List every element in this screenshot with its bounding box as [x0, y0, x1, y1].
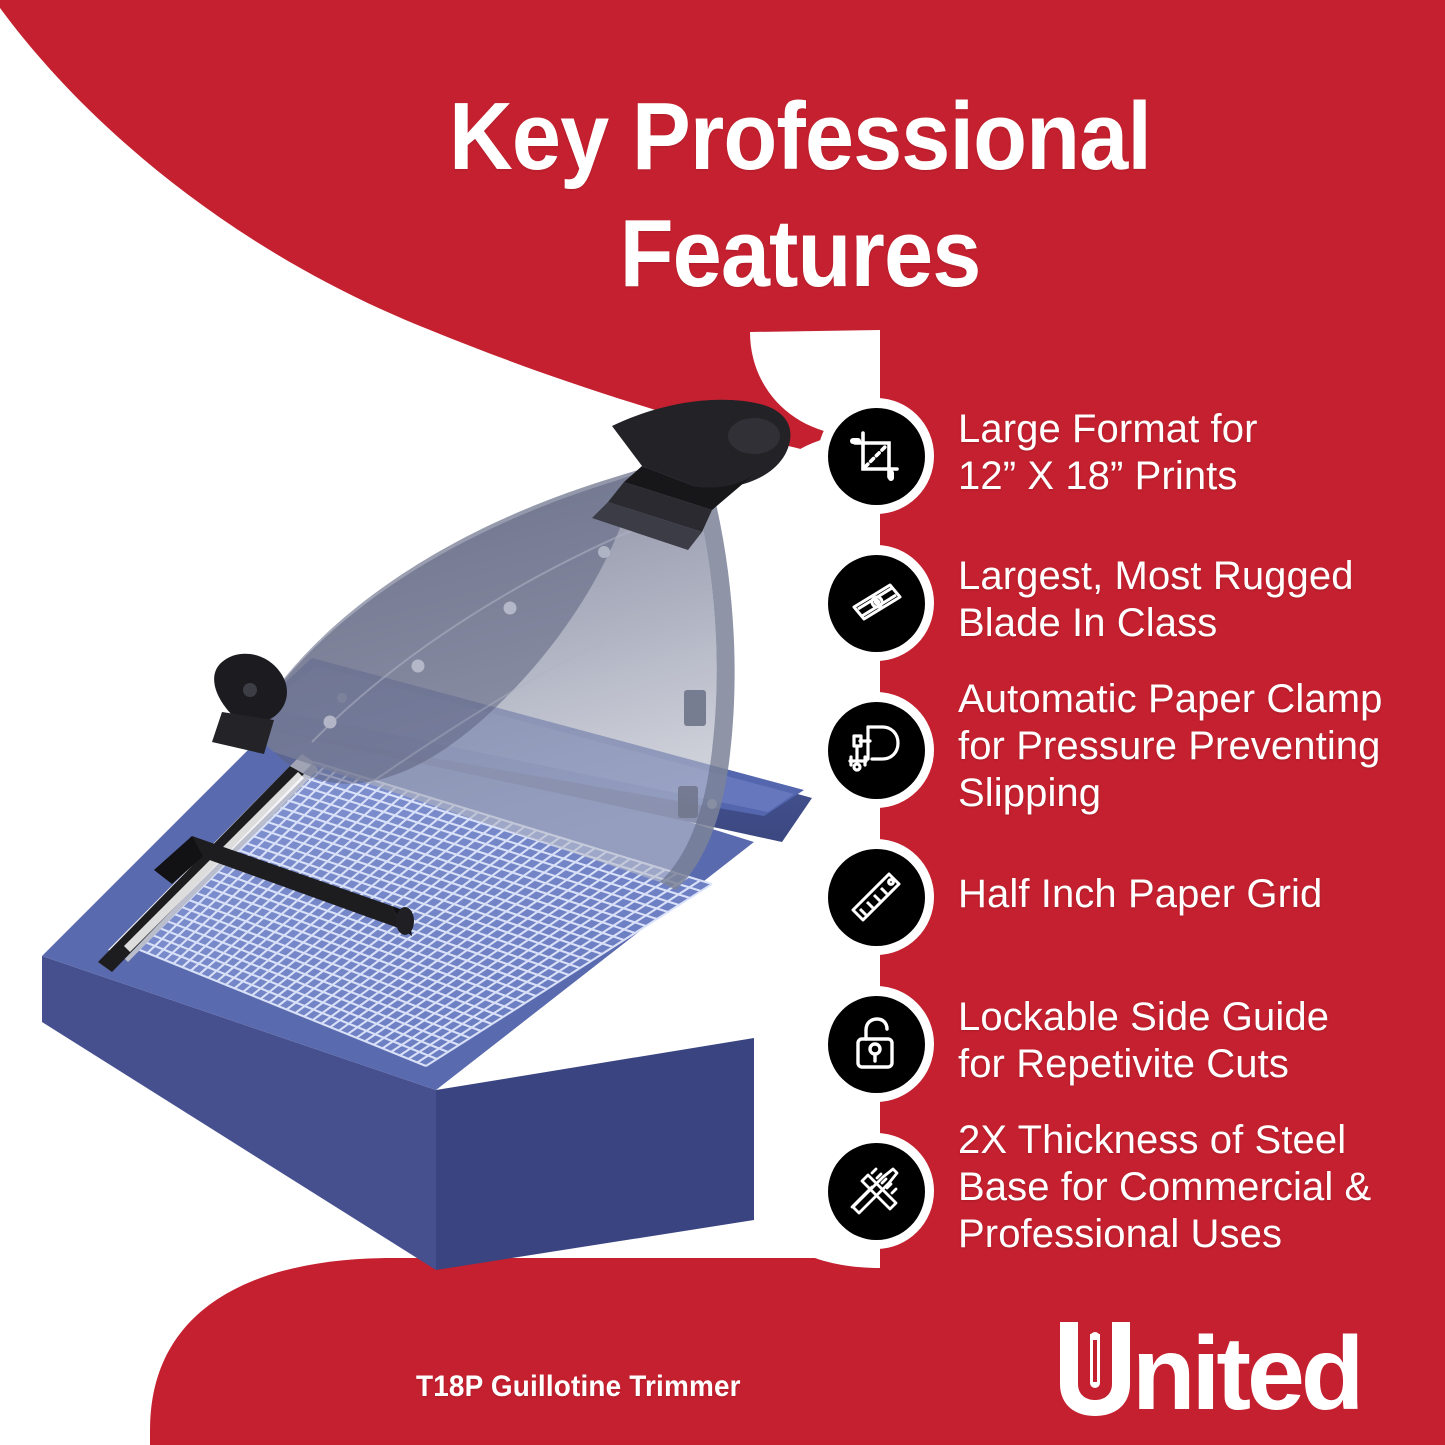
guard-hinge-2 — [678, 786, 698, 818]
paperclip-u-icon — [1052, 1318, 1138, 1422]
crop-frame-icon — [818, 398, 934, 514]
trimmer-base-right-face — [436, 1038, 754, 1270]
product-name-label: T18P Guillotine Trimmer — [416, 1370, 741, 1404]
c-clamp-icon — [818, 692, 934, 808]
feature-line: Base for Commercial & — [958, 1165, 1371, 1209]
feature-line: Slipping — [958, 771, 1101, 815]
caliper-icon — [818, 1133, 934, 1249]
feature-text: Large Format for 12” X 18” Prints — [958, 406, 1438, 500]
icon-disc — [828, 1143, 925, 1240]
feature-line: for Repetivite Cuts — [958, 1042, 1289, 1086]
icon-disc — [828, 702, 925, 799]
feature-text: Largest, Most Rugged Blade In Class — [958, 553, 1438, 647]
feature-line: Large Format for — [958, 407, 1258, 451]
feature-line: Lockable Side Guide — [958, 995, 1329, 1039]
icon-disc — [828, 996, 925, 1093]
brand-wordmark: nited — [1132, 1322, 1360, 1426]
feature-text: Half Inch Paper Grid — [958, 871, 1438, 918]
feature-line: 2X Thickness of Steel — [958, 1118, 1346, 1162]
icon-disc — [828, 555, 925, 652]
guard-hinge-1 — [684, 690, 706, 726]
guard-screw-2 — [412, 660, 425, 673]
blade-sharpener-icon — [818, 545, 934, 661]
guard-screw-3 — [504, 602, 517, 615]
united-logo: nited — [1052, 1318, 1360, 1422]
feature-text: Automatic Paper Clamp for Pressure Preve… — [958, 676, 1438, 818]
blade-arm — [592, 400, 790, 550]
icon-disc — [828, 849, 925, 946]
feature-line: for Pressure Preventing — [958, 724, 1381, 768]
guard-screw-4 — [598, 546, 610, 558]
feature-line: Automatic Paper Clamp — [958, 677, 1383, 721]
feature-line: Professional Uses — [958, 1212, 1282, 1256]
ruler-icon — [818, 839, 934, 955]
feature-text: 2X Thickness of Steel Base for Commercia… — [958, 1117, 1438, 1259]
feature-line: Largest, Most Rugged — [958, 554, 1354, 598]
feature-line: Blade In Class — [958, 601, 1217, 645]
guard-screw-1 — [324, 716, 337, 729]
feature-list: Large Format for 12” X 18” Prints L — [818, 398, 1438, 1260]
feature-text: Lockable Side Guide for Repetivite Cuts — [958, 994, 1438, 1088]
feature-line: Half Inch Paper Grid — [958, 872, 1322, 916]
icon-disc — [828, 408, 925, 505]
product-image — [12, 390, 852, 1270]
infographic-canvas: Key Professional Features — [0, 0, 1445, 1445]
unlocked-padlock-icon — [818, 986, 934, 1102]
feature-line: 12” X 18” Prints — [958, 454, 1238, 498]
